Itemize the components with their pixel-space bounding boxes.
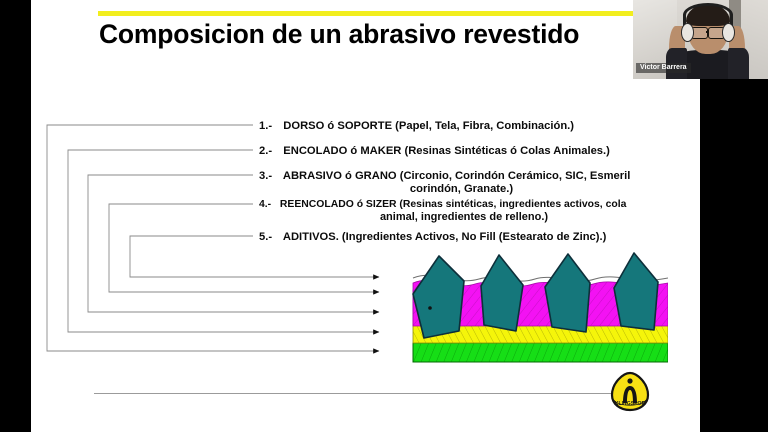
- klingspor-logo: KLINGSPOR: [607, 371, 653, 413]
- participant-sleeve-right: [728, 48, 749, 79]
- list-item-label-continued: corindón, Granate.): [259, 183, 664, 195]
- list-item: 4.- REENCOLADO ó SIZER (Resinas sintétic…: [259, 199, 669, 223]
- eyeglasses-bridge: [706, 31, 709, 33]
- list-item-number: 1.-: [259, 120, 272, 132]
- coated-abrasive-diagram: [383, 250, 668, 368]
- logo-flame-dot: [627, 378, 632, 383]
- participant-name-label: Victor Barrera: [636, 63, 691, 73]
- list-item: 5.- ADITIVOS. (Ingredientes Activos, No …: [259, 231, 606, 243]
- list-item-number: 4.-: [259, 199, 271, 210]
- screen-root: Composicion de un abrasivo revestido 1.-…: [0, 0, 768, 432]
- list-item-label: REENCOLADO ó SIZER (Resinas sintéticas, …: [280, 199, 626, 210]
- list-item-number: 3.-: [259, 170, 272, 182]
- footer-rule: [94, 393, 611, 394]
- list-item-number: 5.-: [259, 231, 272, 243]
- list-item-label: ABRASIVO ó GRANO (Circonio, Corindón Cer…: [283, 170, 630, 182]
- list-item: 3.- ABRASIVO ó GRANO (Circonio, Corindón…: [259, 170, 664, 195]
- title-accent-rule: [98, 11, 678, 16]
- list-item: 1.- DORSO ó SOPORTE (Papel, Tela, Fibra,…: [259, 120, 574, 132]
- list-item-label: ADITIVOS. (Ingredientes Activos, No Fill…: [283, 231, 606, 243]
- logo-wordmark: KLINGSPOR: [615, 401, 646, 407]
- headphones-earcup-right: [722, 23, 735, 42]
- webcam-tile[interactable]: Victor Barrera: [633, 0, 768, 79]
- layer-backing: [413, 343, 668, 362]
- grain-pointer-dot: [428, 306, 432, 310]
- list-item-label: DORSO ó SOPORTE (Papel, Tela, Fibra, Com…: [283, 120, 574, 132]
- page-title: Composicion de un abrasivo revestido: [99, 20, 699, 49]
- list-item-number: 2.-: [259, 145, 272, 157]
- list-item: 2.- ENCOLADO ó MAKER (Resinas Sintéticas…: [259, 145, 610, 157]
- letterbox-right: [700, 79, 768, 432]
- list-item-label-continued: animal, ingredientes de relleno.): [259, 211, 669, 223]
- headphones-earcup-left: [681, 23, 694, 42]
- presentation-slide: Composicion de un abrasivo revestido 1.-…: [31, 0, 737, 432]
- list-item-label: ENCOLADO ó MAKER (Resinas Sintéticas ó C…: [283, 145, 610, 157]
